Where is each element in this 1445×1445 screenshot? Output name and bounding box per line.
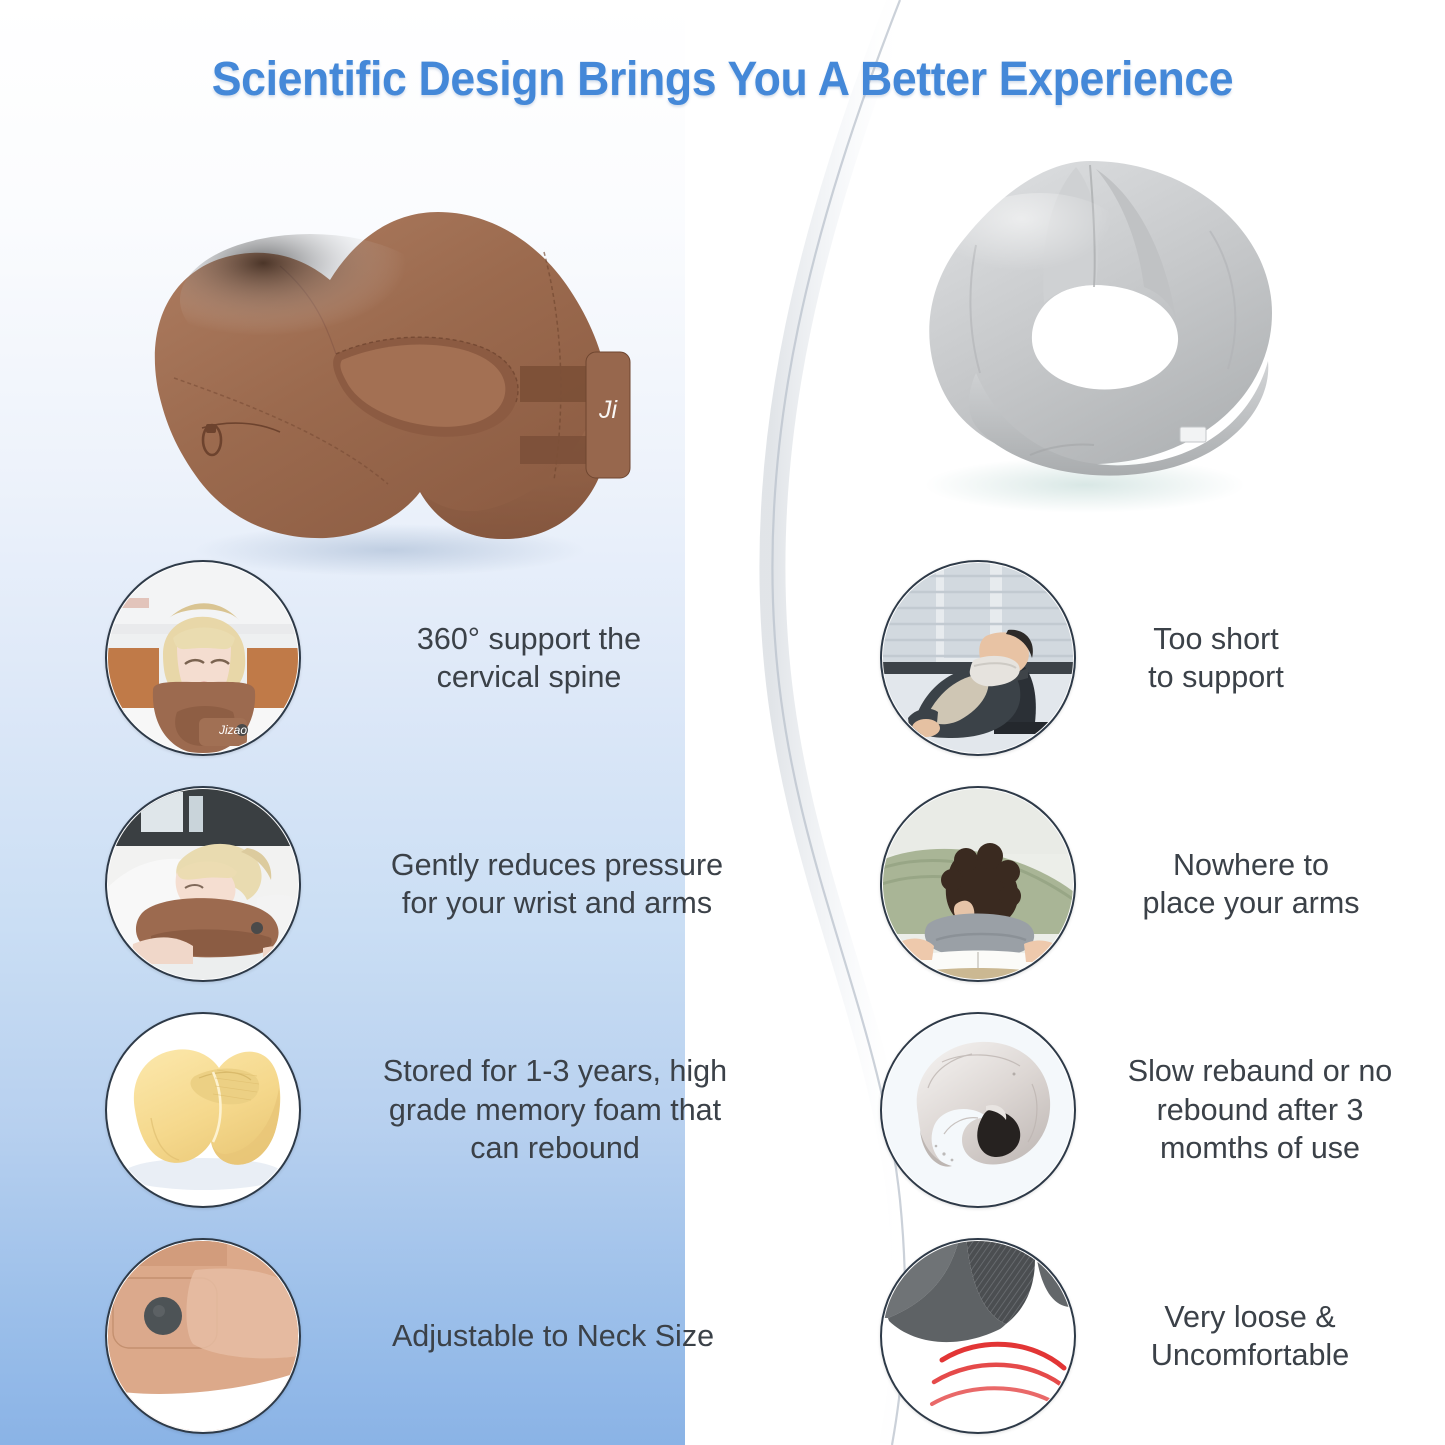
list-item-label: Slow rebaund or no rebound after 3 momth…: [1076, 1052, 1440, 1167]
list-item-label: Too short to support: [1076, 620, 1440, 697]
page-title: Scientific Design Brings You A Better Ex…: [51, 52, 1395, 107]
svg-text:Ji: Ji: [598, 396, 619, 424]
list-item-label: Nowhere to place your arms: [1076, 846, 1440, 923]
svg-text:Jizao: Jizao: [218, 723, 247, 737]
list-item-label: Gently reduces pressure for your wrist a…: [301, 846, 805, 923]
left-feature-list: Jizao 360° support the cervical spine: [105, 545, 805, 1445]
list-item-label: 360° support the cervical spine: [301, 620, 805, 697]
hero-image-grey-pillow: [880, 135, 1300, 525]
thumb-adjustable-strap-closeup[interactable]: [105, 1238, 301, 1434]
thumb-collapsed-pillow[interactable]: [880, 1012, 1076, 1208]
list-item: Stored for 1-3 years, high grade memory …: [105, 997, 805, 1223]
thumb-memory-foam-core[interactable]: [105, 1012, 301, 1208]
hero-image-brown-pillow: Ji: [120, 140, 660, 580]
list-item: Too short to support: [880, 545, 1440, 771]
infographic-canvas: Scientific Design Brings You A Better Ex…: [0, 0, 1445, 1445]
list-item: Nowhere to place your arms: [880, 771, 1440, 997]
list-item-label: Stored for 1-3 years, high grade memory …: [301, 1052, 805, 1167]
thumb-desk-rest-pillow[interactable]: [105, 786, 301, 982]
thumb-loose-uncomfortable-pillow[interactable]: [880, 1238, 1076, 1434]
thumb-man-leaning-back-office[interactable]: [880, 560, 1076, 756]
list-item: Gently reduces pressure for your wrist a…: [105, 771, 805, 997]
list-item-label: Adjustable to Neck Size: [301, 1317, 805, 1355]
thumb-woman-wearing-pillow[interactable]: Jizao: [105, 560, 301, 756]
list-item: Adjustable to Neck Size: [105, 1223, 805, 1445]
list-item: Slow rebaund or no rebound after 3 momth…: [880, 997, 1440, 1223]
right-feature-list: Too short to support: [880, 545, 1440, 1445]
list-item: Very loose & Uncomfortable: [880, 1223, 1440, 1445]
thumb-face-down-on-book[interactable]: [880, 786, 1076, 982]
list-item-label: Very loose & Uncomfortable: [1076, 1298, 1440, 1375]
list-item: Jizao 360° support the cervical spine: [105, 545, 805, 771]
